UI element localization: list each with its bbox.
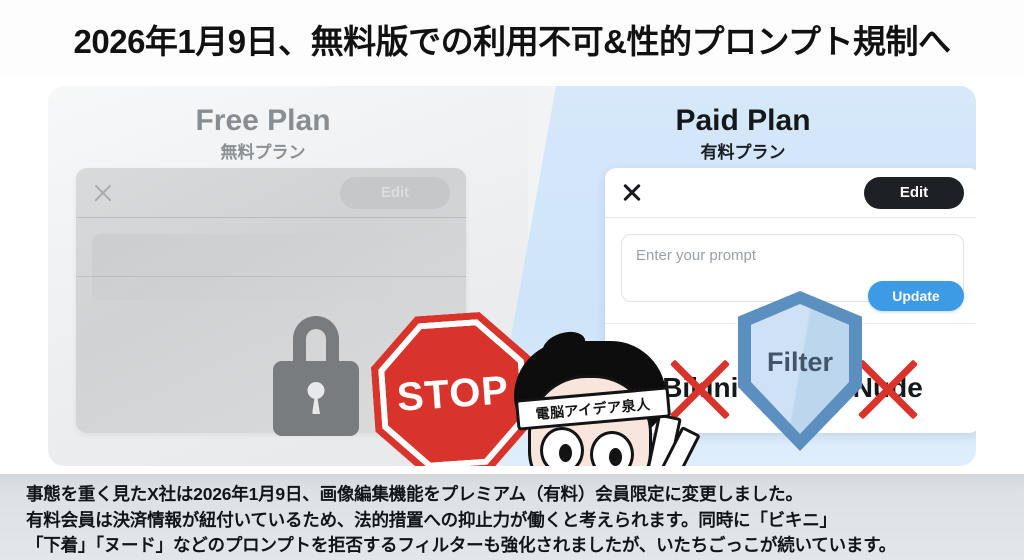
page-header: 2026年1月9日、無料版での利用不可&性的プロンプト規制へ — [0, 0, 1024, 78]
free-dialog-divider — [76, 276, 466, 277]
free-plan-heading: Free Plan 無料プラン — [113, 104, 413, 165]
free-dialog-toolbar: Edit — [76, 168, 466, 218]
update-button[interactable]: Update — [868, 281, 964, 311]
paid-plan-name-jp: 有料プラン — [593, 140, 893, 166]
paid-edit-button[interactable]: Edit — [864, 177, 964, 209]
close-icon[interactable] — [92, 182, 114, 204]
paid-dialog-toolbar: Edit — [605, 168, 976, 218]
filter-shield-icon: Filter — [738, 291, 862, 451]
shield-label: Filter — [738, 347, 862, 378]
mascot-pupil — [559, 444, 572, 462]
caption-line-3: 「下着」「ヌード」などのプロンプトを拒否するフィルターも強化されましたが、いたち… — [26, 533, 998, 559]
free-plan-name-en: Free Plan — [113, 104, 413, 138]
free-dialog-body — [76, 218, 466, 300]
close-icon[interactable] — [621, 182, 643, 204]
paid-plan-name-en: Paid Plan — [593, 104, 893, 138]
caption-line-1: 事態を重く見たX社は2026年1月9日、画像編集機能をプレミアム（有料）会員限定… — [26, 482, 998, 508]
caption-bar: 事態を重く見たX社は2026年1月9日、画像編集機能をプレミアム（有料）会員限定… — [0, 474, 1024, 560]
caption-line-2: 有料会員は決済情報が紐付いているため、法的措置への抑止力が働くと考えられます。同… — [26, 508, 998, 534]
free-plan-name-jp: 無料プラン — [113, 140, 413, 166]
lock-icon — [273, 316, 359, 436]
free-edit-button: Edit — [340, 177, 450, 209]
mascot-pupil — [609, 448, 622, 466]
paid-plan-heading: Paid Plan 有料プラン — [593, 104, 893, 165]
banned-word-label: Nude — [853, 372, 923, 403]
page-title: 2026年1月9日、無料版での利用不可&性的プロンプト規制へ — [74, 15, 951, 63]
lock-keyhole — [308, 382, 325, 399]
free-prompt-field-disabled — [92, 234, 392, 300]
mascot-character: 電脳アイデア泉人 — [490, 341, 690, 466]
mascot-headband-label: 電脳アイデア泉人 — [535, 394, 652, 424]
comparison-stage: Free Plan 無料プラン Paid Plan 有料プラン Edit Edi… — [48, 86, 976, 466]
mascot-eye — [540, 427, 584, 466]
